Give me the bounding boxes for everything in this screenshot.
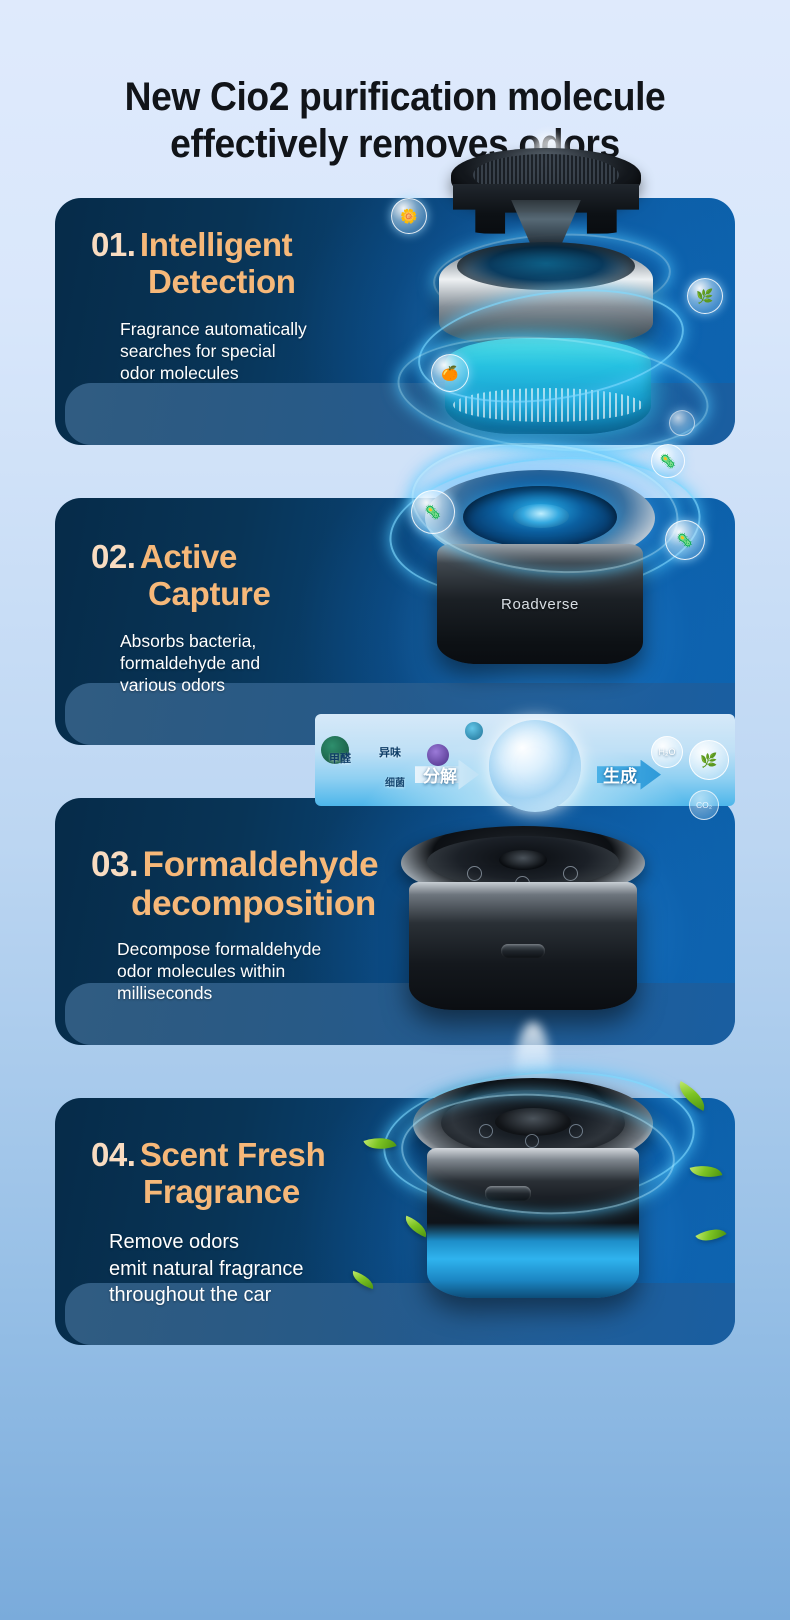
- card-2-body-line-2: formaldehyde and: [120, 652, 491, 674]
- card-4-text: 04. Scent Fresh Fragrance Remove odors e…: [91, 1138, 491, 1309]
- card-2-body: Absorbs bacteria, formaldehyde and vario…: [91, 630, 491, 696]
- card-4-heading-line-2-wrap: Fragrance: [91, 1175, 491, 1210]
- card-4-body: Remove odors emit natural fragrance thro…: [91, 1230, 491, 1309]
- card-2-body-line-1: Absorbs bacteria,: [120, 630, 491, 652]
- card-3-heading-line-2-wrap: decomposition: [91, 885, 491, 922]
- card-4-heading-line-1: Scent Fresh: [140, 1136, 326, 1173]
- card-2-heading-line-2: Capture: [148, 575, 271, 612]
- card-1-body-line-1: Fragrance automatically: [120, 318, 491, 340]
- card-2-heading-line-2-wrap: Capture: [91, 577, 491, 612]
- card-2-text: 02. Active Capture Absorbs bacteria, for…: [91, 540, 491, 696]
- card-4-body-line-1: Remove odors: [109, 1230, 491, 1256]
- feature-card-3[interactable]: 甲醛 异味 细菌 分解 生成 H₂O 🌿 CO₂: [55, 798, 735, 1045]
- feature-card-1[interactable]: 🌼 🌿 🍊 01. Intelligent Detection Fragranc…: [55, 198, 735, 445]
- card-1-heading-line-2-wrap: Detection: [91, 265, 491, 300]
- card-3-body-line-3: milliseconds: [117, 982, 491, 1004]
- diagram-input-label-2: 异味: [379, 744, 401, 760]
- card-3-heading-line-2: decomposition: [131, 884, 376, 923]
- diagram-input-label-3: 细菌: [385, 774, 405, 789]
- card-3-body-line-1: Decompose formaldehyde: [117, 938, 491, 960]
- feature-card-list: 🌼 🌿 🍊 01. Intelligent Detection Fragranc…: [0, 198, 790, 1345]
- title-line-2: effectively removes odors: [28, 121, 763, 168]
- leaf-output-bubble-icon: 🌿: [689, 740, 729, 780]
- card-3-body: Decompose formaldehyde odor molecules wi…: [91, 938, 491, 1004]
- page-title: New Cio2 purification molecule effective…: [0, 0, 790, 168]
- card-4-body-line-2: emit natural fragrance: [109, 1257, 491, 1283]
- card-2-heading: 02. Active: [91, 540, 491, 575]
- card-1-heading-line-1: Intelligent: [140, 226, 293, 263]
- card-1-heading: 01. Intelligent: [91, 228, 491, 263]
- card-1-heading-line-2: Detection: [148, 263, 296, 300]
- product-infographic-page: { "page": { "background_top": "#dfeafc",…: [0, 0, 790, 1620]
- card-3-text: 03. Formaldehyde decomposition Decompose…: [91, 846, 491, 1004]
- card-1-number: 01.: [91, 226, 135, 263]
- card-3-number: 03.: [91, 845, 138, 884]
- card-2-body-line-3: various odors: [120, 674, 491, 696]
- feature-card-2[interactable]: Roadverse 🦠 🦠 🦠 02. Active Capture Absor…: [55, 498, 735, 745]
- card-2-number: 02.: [91, 538, 135, 575]
- title-line-1: New Cio2 purification molecule: [28, 74, 763, 121]
- card-4-heading-line-2: Fragrance: [143, 1173, 300, 1210]
- card-3-body-line-2: odor molecules within: [117, 960, 491, 982]
- card-4-heading: 04. Scent Fresh: [91, 1138, 491, 1173]
- card-4-body-line-3: throughout the car: [109, 1283, 491, 1309]
- card-4-number: 04.: [91, 1136, 135, 1173]
- benzene-germ-icon: [427, 744, 449, 766]
- card-1-body-line-3: odor molecules: [120, 362, 491, 384]
- decompose-arrow-icon: [415, 760, 479, 790]
- diagram-arrow-2-label: 生成: [603, 762, 637, 787]
- diagram-input-label-1: 甲醛: [329, 750, 351, 766]
- card-1-body-line-2: searches for special: [120, 340, 491, 362]
- card-1-text: 01. Intelligent Detection Fragrance auto…: [91, 228, 491, 384]
- diagram-arrow-1-label: 分解: [423, 762, 457, 787]
- yellow-germ-bubble-icon: 🦠: [651, 444, 685, 478]
- generate-arrow-icon: [597, 760, 661, 790]
- card-2-heading-line-1: Active: [140, 538, 237, 575]
- card-3-heading-line-1: Formaldehyde: [143, 845, 379, 884]
- card-1-body: Fragrance automatically searches for spe…: [91, 318, 491, 384]
- feature-card-4[interactable]: 04. Scent Fresh Fragrance Remove odors e…: [55, 1098, 735, 1345]
- card-3-heading: 03. Formaldehyde: [91, 846, 491, 883]
